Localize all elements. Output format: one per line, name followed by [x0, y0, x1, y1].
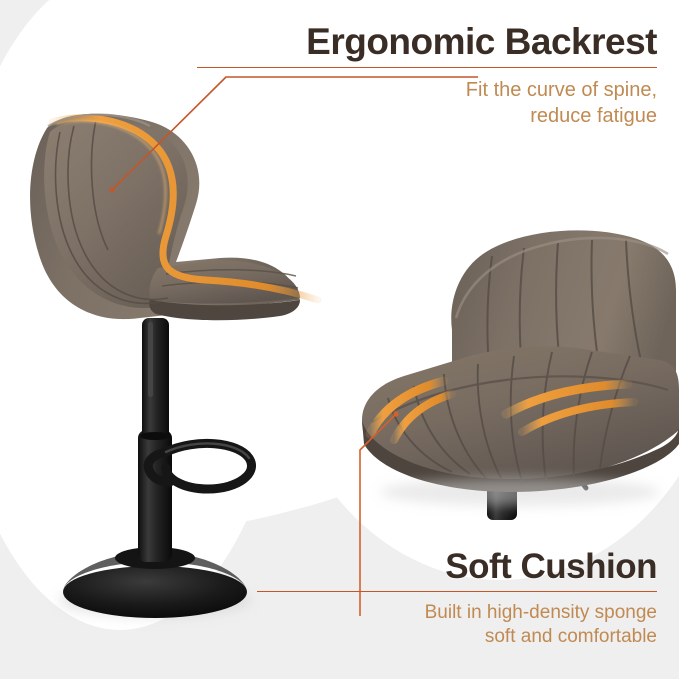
callout-anchor-dot-bottom: [393, 411, 398, 416]
infographic-canvas: Ergonomic Backrest Fit the curve of spin…: [0, 0, 679, 679]
callout-subtitle-line2-ergonomic-backrest: reduce fatigue: [197, 103, 657, 129]
callout-subtitle-line1-ergonomic-backrest: Fit the curve of spine,: [197, 77, 657, 103]
callout-rule-top: [197, 67, 657, 68]
callout-subtitle-line1-soft-cushion: Built in high-density sponge: [257, 601, 657, 626]
callout-title-ergonomic-backrest: Ergonomic Backrest: [197, 22, 657, 62]
callout-title-soft-cushion: Soft Cushion: [257, 548, 657, 586]
callout-anchor-dot-top: [109, 187, 114, 192]
callout-ergonomic-backrest: Ergonomic Backrest Fit the curve of spin…: [197, 22, 657, 129]
callout-rule-bottom: [257, 591, 657, 592]
callout-subtitle-line2-soft-cushion: soft and comfortable: [257, 625, 657, 650]
callout-soft-cushion: Soft Cushion Built in high-density spong…: [257, 548, 657, 650]
